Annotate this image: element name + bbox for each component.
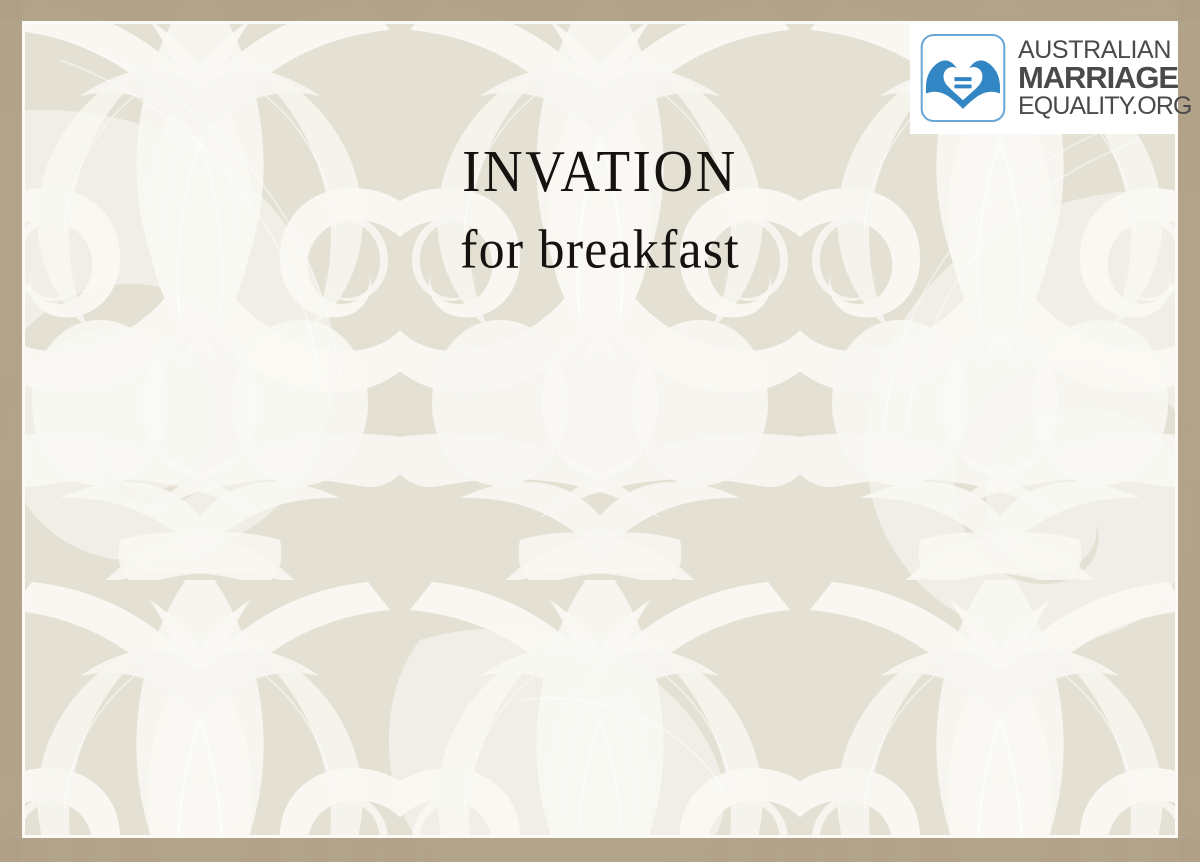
logo-wordmark: AUSTRALIAN MARRIAGE EQUALITY.ORG — [1018, 38, 1192, 119]
logo-wordmark-line-3: EQUALITY.ORG — [1018, 94, 1192, 118]
invitation-card: INVATION for breakfast AUSTRALIAN MARRIA… — [0, 0, 1200, 862]
logo-wordmark-line-1: AUSTRALIAN — [1018, 38, 1192, 62]
logo-wordmark-line-2: MARRIAGE — [1018, 63, 1192, 93]
heart-hands-icon — [920, 33, 1006, 123]
australian-marriage-equality-logo[interactable]: AUSTRALIAN MARRIAGE EQUALITY.ORG — [910, 22, 1178, 134]
